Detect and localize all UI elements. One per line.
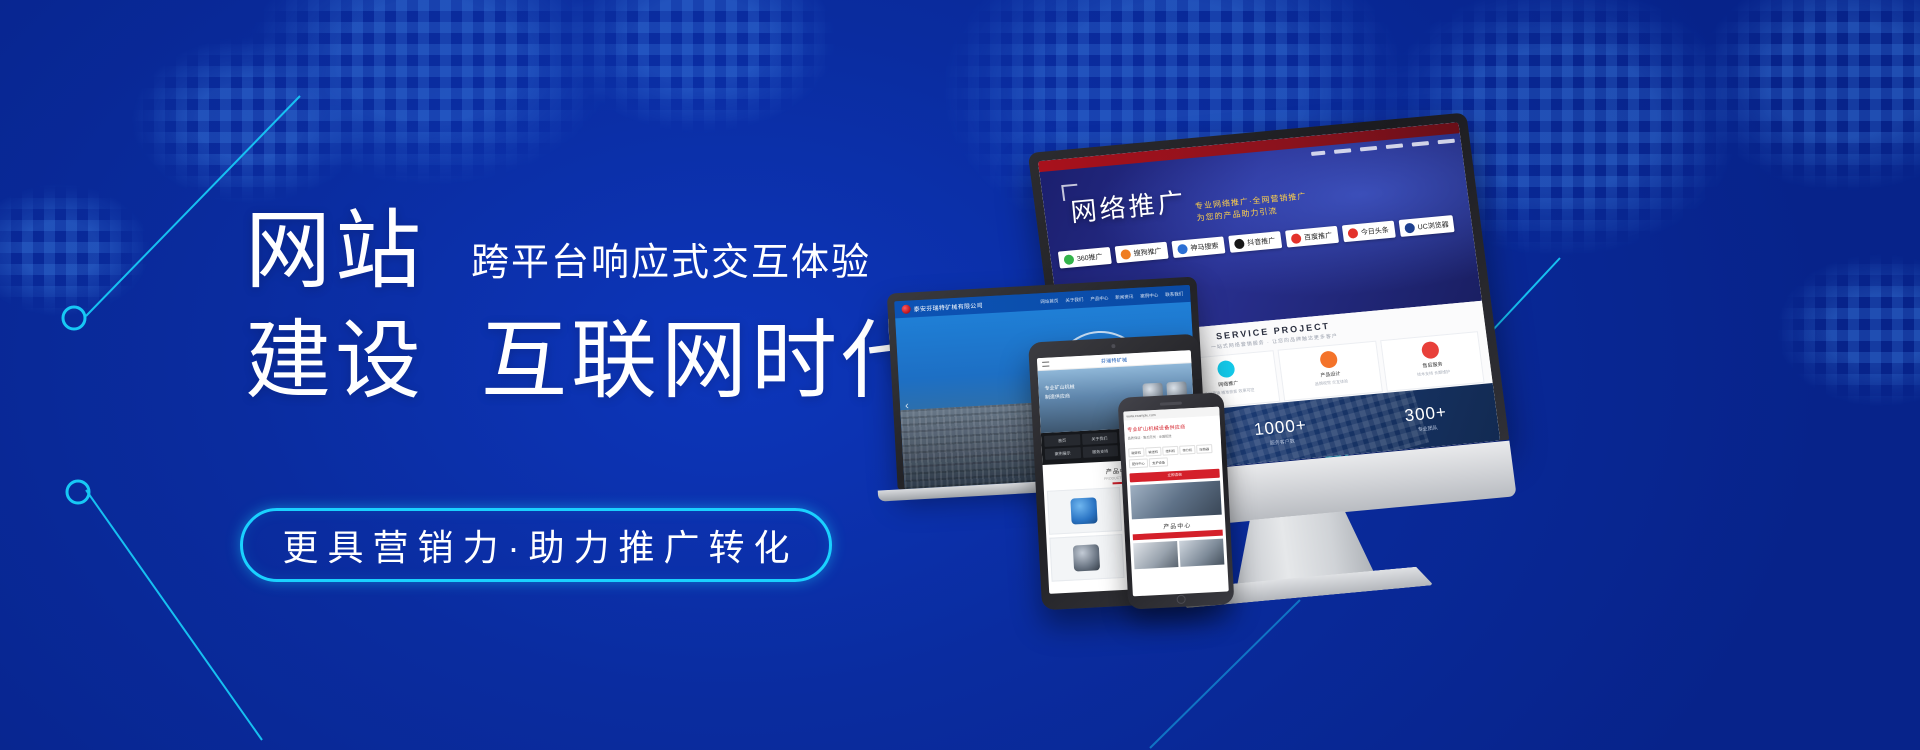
phone-tag[interactable]: 输送机 <box>1145 447 1161 457</box>
phone-url-text: www.example.com <box>1126 412 1155 418</box>
hero-banner: 网站 跨平台响应式交互体验 建设 互联网时代 更具营销力·助力推广转化 <box>0 0 1920 750</box>
device-mockup-group: 网络推广 专业网络推广·全网营销推广 为您的产品助力引流 360推广 <box>880 110 1880 640</box>
stat-item: 300+ 专业团队 <box>1403 402 1449 434</box>
platform-badge[interactable]: 神马搜索 <box>1171 236 1225 258</box>
phone-thumbnail-row <box>1130 535 1228 572</box>
tablet-menu-item[interactable]: 案例展示 <box>1045 447 1081 460</box>
service-card-icon <box>1217 360 1236 378</box>
tablet-hero-text: 专业矿山机械 制造供应商 <box>1044 383 1075 403</box>
phone-screen: www.example.com 专业矿山机械设备供应商 品质保证 · 售后无忧 … <box>1123 407 1229 597</box>
laptop-nav-item[interactable]: 联系我们 <box>1165 291 1183 298</box>
slogan-pill-button[interactable]: 更具营销力·助力推广转化 <box>240 508 832 582</box>
service-card-desc: 品牌视觉 交互体验 <box>1315 378 1349 388</box>
platform-icon <box>1404 222 1415 233</box>
phone-mockup: www.example.com 专业矿山机械设备供应商 品质保证 · 售后无忧 … <box>1118 392 1235 609</box>
platform-badge-label: 百度推广 <box>1303 230 1332 243</box>
service-card-title: 售后服务 <box>1422 360 1443 369</box>
slogan-pill-label: 更具营销力·助力推广转化 <box>274 519 799 571</box>
laptop-nav-item[interactable]: 网站首页 <box>1040 298 1058 305</box>
phone-home-button-icon[interactable] <box>1176 595 1185 604</box>
phone-hero-photo <box>1130 480 1222 519</box>
tablet-camera-icon <box>1111 344 1115 348</box>
tablet-menu-item[interactable]: 首页 <box>1044 434 1080 447</box>
platform-icon <box>1063 254 1074 265</box>
phone-speaker-icon <box>1160 402 1182 406</box>
platform-badge-label: 神马搜索 <box>1190 240 1219 253</box>
platform-icon <box>1120 249 1131 260</box>
service-card-title: 产品设计 <box>1320 370 1341 379</box>
monitor-nav-item-0[interactable] <box>1311 151 1325 156</box>
laptop-logo[interactable]: 泰安芬瑞特矿械有限公司 <box>901 300 983 314</box>
monitor-nav-item-5[interactable] <box>1438 139 1455 145</box>
phone-tag[interactable]: 除铁器 <box>1196 444 1212 454</box>
platform-badge[interactable]: 抖音推广 <box>1228 231 1282 253</box>
service-card-icon <box>1421 341 1440 359</box>
laptop-nav-item[interactable]: 关于我们 <box>1065 296 1083 303</box>
product-thumbnail-icon[interactable] <box>1179 538 1224 566</box>
tablet-menu-item[interactable]: 服务支持 <box>1082 445 1118 458</box>
phone-tag[interactable]: 配件中心 <box>1129 458 1148 468</box>
platform-badge[interactable]: 搜狗推广 <box>1115 242 1169 264</box>
headline-line-1: 网站 跨平台响应式交互体验 <box>245 208 945 294</box>
platform-badge-label: UC浏览器 <box>1417 219 1449 232</box>
monitor-nav-item-2[interactable] <box>1360 146 1377 152</box>
service-card-desc: 技术支持 长期维护 <box>1417 369 1451 379</box>
monitor-hero-subtext: 专业网络推广·全网营销推广 为您的产品助力引流 <box>1194 191 1308 225</box>
phone-tag[interactable]: 筛分机 <box>1179 445 1195 455</box>
monitor-nav-item-3[interactable] <box>1386 143 1403 149</box>
service-card[interactable]: 产品设计 品牌视觉 交互体验 <box>1277 340 1382 401</box>
platform-badge-label: 360推广 <box>1076 251 1103 263</box>
platform-badge[interactable]: 360推广 <box>1058 247 1112 269</box>
stat-item: 1000+ 服务客户数 <box>1253 415 1309 448</box>
phone-tag-list: 破碎机 输送机 给料机 筛分机 除铁器 配件中心 支护设备 <box>1125 442 1222 470</box>
platform-badge[interactable]: 百度推广 <box>1285 226 1339 248</box>
laptop-nav-item[interactable]: 新闻资讯 <box>1115 294 1133 301</box>
stat-number: 300+ <box>1403 402 1448 426</box>
laptop-nav-item[interactable]: 案例中心 <box>1140 292 1158 299</box>
headline-phrase: 互联网时代 <box>481 318 931 404</box>
monitor-hero-headline: 网络推广 <box>1069 182 1188 230</box>
chevron-left-icon[interactable]: ‹ <box>905 400 909 412</box>
company-logo-icon <box>901 305 910 314</box>
headline-keyword-2: 建设 <box>245 318 425 404</box>
phone-tag[interactable]: 支护设备 <box>1149 457 1168 467</box>
monitor-nav-item-4[interactable] <box>1412 141 1429 147</box>
platform-icon <box>1290 233 1301 244</box>
product-tile[interactable] <box>1047 487 1122 535</box>
tablet-hero-line2: 制造供应商 <box>1045 392 1075 403</box>
monitor-nav-item-1[interactable] <box>1334 148 1351 154</box>
product-image-icon <box>1071 497 1098 524</box>
tablet-logo-label: 芬瑞特矿械 <box>1101 356 1128 364</box>
platform-icon <box>1177 243 1188 254</box>
hamburger-menu-icon[interactable] <box>1042 361 1049 366</box>
product-tile[interactable] <box>1049 534 1124 582</box>
platform-badge-label: 抖音推广 <box>1247 235 1276 248</box>
platform-badge[interactable]: 今日头条 <box>1342 221 1396 243</box>
phone-tag[interactable]: 破碎机 <box>1128 448 1144 458</box>
laptop-company-name: 泰安芬瑞特矿械有限公司 <box>913 300 983 313</box>
headline-keyword-1: 网站 <box>245 208 425 294</box>
platform-badge[interactable]: UC浏览器 <box>1399 215 1455 237</box>
headline-group: 网站 跨平台响应式交互体验 建设 互联网时代 <box>245 208 945 404</box>
product-thumbnail-icon[interactable] <box>1133 540 1178 568</box>
product-image-icon <box>1073 544 1100 571</box>
service-card-icon <box>1319 350 1338 368</box>
platform-badge-label: 今日头条 <box>1360 225 1389 238</box>
service-card-title: 网络推广 <box>1218 379 1239 388</box>
laptop-nav-item[interactable]: 产品中心 <box>1090 295 1108 302</box>
phone-cta-button[interactable]: 立即咨询 <box>1129 468 1219 482</box>
platform-icon <box>1234 238 1245 249</box>
banner-subtitle: 跨平台响应式交互体验 <box>471 244 871 294</box>
headline-line-2: 建设 互联网时代 <box>245 318 945 404</box>
phone-tag[interactable]: 给料机 <box>1162 446 1178 456</box>
platform-icon <box>1347 227 1358 238</box>
tablet-menu-item[interactable]: 关于我们 <box>1081 432 1117 445</box>
platform-badge-label: 搜狗推广 <box>1133 246 1162 259</box>
service-card[interactable]: 售后服务 技术支持 长期维护 <box>1380 331 1485 392</box>
